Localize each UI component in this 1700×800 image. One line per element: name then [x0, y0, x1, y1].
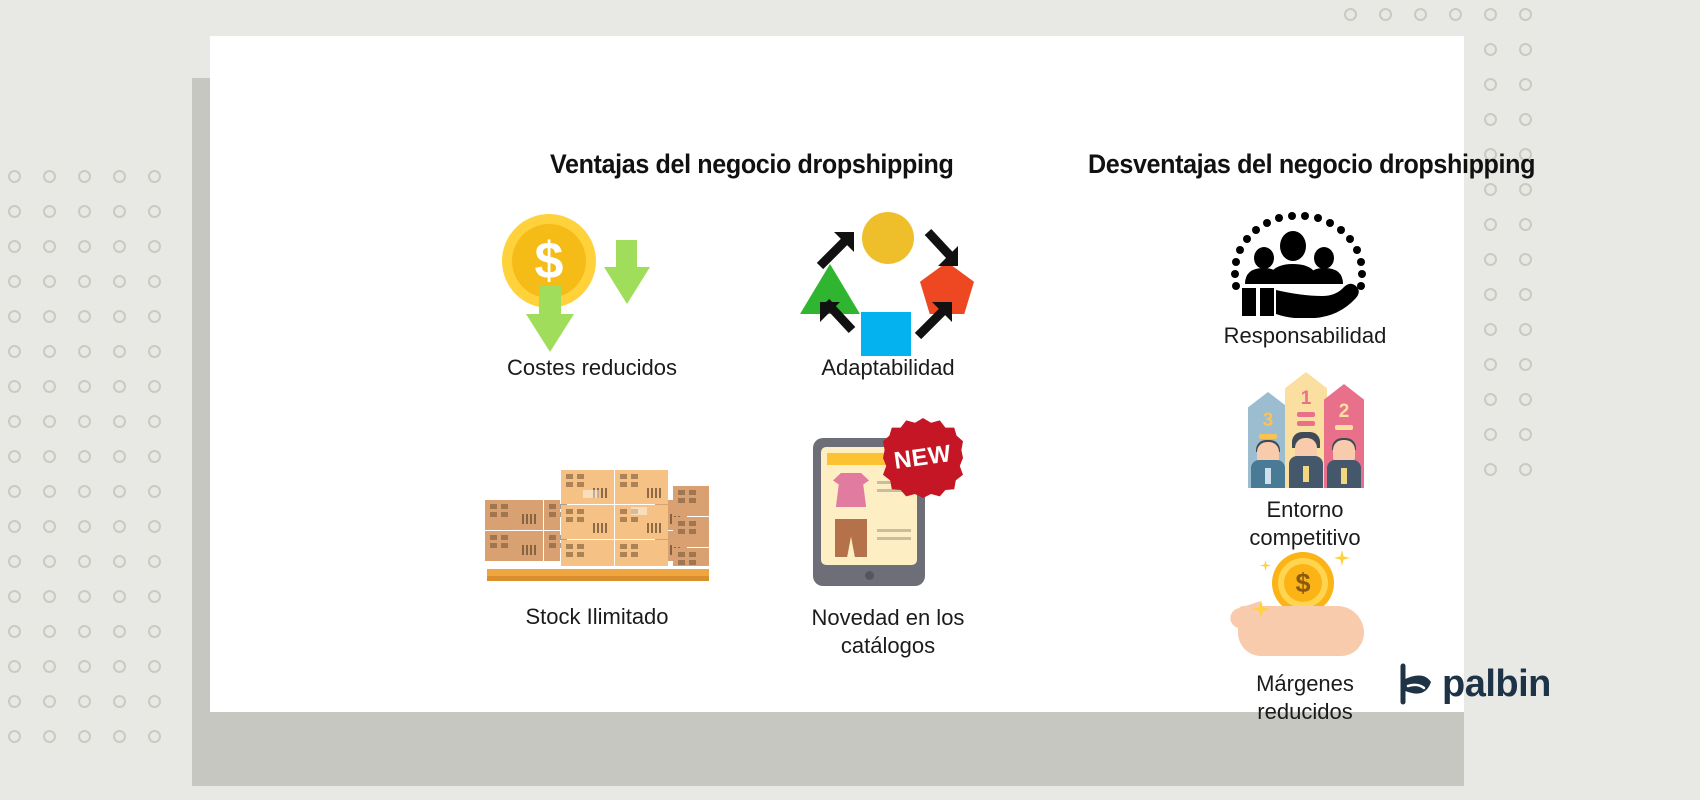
decorative-dot [78, 450, 91, 463]
decorative-dot [43, 415, 56, 428]
decorative-dot [148, 485, 161, 498]
decorative-dot [113, 240, 126, 253]
decorative-dot [1484, 288, 1497, 301]
decorative-dot [1519, 113, 1532, 126]
podium-place-3: 3 [1248, 392, 1288, 488]
decorative-dot [148, 415, 161, 428]
decorative-dot [1519, 358, 1532, 371]
decorative-dot [78, 660, 91, 673]
decorative-dot [43, 520, 56, 533]
dress-product-icon [833, 473, 869, 507]
decorative-dot [8, 625, 21, 638]
decorative-dot [8, 520, 21, 533]
item-responsabilidad: Responsabilidad [1210, 198, 1400, 350]
decorative-dot [1484, 463, 1497, 476]
decorative-dot [43, 205, 56, 218]
decorative-dot [113, 590, 126, 603]
podium-rank-1: 1 [1285, 388, 1327, 410]
item-caption: Adaptabilidad [788, 354, 988, 382]
item-caption: Márgenes reducidos [1210, 670, 1400, 726]
item-caption: Costes reducidos [482, 354, 702, 382]
decorative-dot [8, 275, 21, 288]
podium-place-1: 1 [1285, 372, 1327, 488]
blue-square-shape [861, 312, 911, 356]
podium-rank-3: 3 [1248, 410, 1288, 432]
decorative-dot [78, 485, 91, 498]
decorative-dot [1484, 43, 1497, 56]
decorative-dot [43, 660, 56, 673]
decorative-dot [113, 170, 126, 183]
tablet-home-button [865, 571, 874, 580]
decorative-dot [148, 240, 161, 253]
decorative-dot [1519, 183, 1532, 196]
decorative-dot [78, 695, 91, 708]
down-arrow-large-icon [526, 286, 574, 352]
decorative-dot [1519, 43, 1532, 56]
column-title-ventajas: Ventajas del negocio dropshipping [550, 149, 953, 180]
decorative-dot [78, 345, 91, 358]
decorative-dot [1484, 78, 1497, 91]
decorative-dot [113, 380, 126, 393]
decorative-dot [113, 415, 126, 428]
decorative-dot [43, 695, 56, 708]
decorative-dot [8, 345, 21, 358]
decorative-dot [8, 555, 21, 568]
decorative-dot [1519, 428, 1532, 441]
decorative-dot [148, 695, 161, 708]
dollar-sign: $ [1284, 564, 1322, 602]
decorative-dot [1519, 393, 1532, 406]
palbin-logo: palbin [1395, 662, 1551, 706]
decorative-dot [1484, 8, 1497, 21]
decorative-dot [1519, 323, 1532, 336]
decorative-dot [1484, 393, 1497, 406]
cycle-arrow-top-left-icon [814, 226, 860, 272]
podium-rank-2: 2 [1324, 401, 1364, 423]
new-badge-label: NEW [893, 440, 954, 476]
decorative-dot [1484, 113, 1497, 126]
pants-product-icon [835, 519, 867, 557]
decorative-dot [43, 345, 56, 358]
decorative-dot [148, 275, 161, 288]
decorative-dot [43, 275, 56, 288]
decorative-dot [1519, 218, 1532, 231]
decorative-dot [78, 520, 91, 533]
decorative-dot [148, 205, 161, 218]
decorative-dot [78, 555, 91, 568]
item-caption: Responsabilidad [1210, 322, 1400, 350]
decorative-dot [8, 660, 21, 673]
decorative-dot [78, 275, 91, 288]
decorative-dot [8, 240, 21, 253]
decorative-dot [43, 555, 56, 568]
item-caption: Novedad en los catálogos [798, 604, 978, 660]
decorative-dot [43, 625, 56, 638]
decorative-dot [78, 310, 91, 323]
decorative-dot [1519, 253, 1532, 266]
tablet-catalog-new-badge-icon: NEW [803, 418, 973, 588]
decorative-dot [113, 310, 126, 323]
decorative-dot [8, 380, 21, 393]
decorative-dot [1519, 8, 1532, 21]
decorative-dot [1414, 8, 1427, 21]
decorative-dot [78, 380, 91, 393]
decorative-dot [43, 240, 56, 253]
podium-ranking-icon: 3 1 [1230, 372, 1380, 488]
decorative-dot [43, 170, 56, 183]
new-badge: NEW [883, 418, 963, 498]
item-entorno-competitivo: 3 1 [1210, 372, 1400, 552]
decorative-dot [8, 310, 21, 323]
palbin-logo-text: palbin [1442, 663, 1551, 706]
decorative-dot [43, 380, 56, 393]
decorative-dot [43, 485, 56, 498]
decorative-dot [8, 205, 21, 218]
decorative-dot [8, 170, 21, 183]
decorative-dot [148, 450, 161, 463]
decorative-dot [148, 555, 161, 568]
cycle-arrow-top-right-icon [916, 226, 962, 272]
decorative-dot [113, 485, 126, 498]
decorative-dot [78, 415, 91, 428]
item-caption: Stock Ilimitado [472, 603, 722, 631]
decorative-dot [1484, 253, 1497, 266]
down-arrow-small-icon [604, 240, 650, 304]
decorative-dot [1484, 428, 1497, 441]
sparkle-icon [1260, 560, 1271, 571]
decorative-dot [113, 275, 126, 288]
yellow-circle-shape [862, 212, 914, 264]
decorative-dot [148, 625, 161, 638]
decorative-dot [43, 590, 56, 603]
coin-down-arrows-icon: $ [482, 204, 702, 354]
decorative-dot [148, 730, 161, 743]
coin-in-hand-icon: $ [1230, 544, 1380, 664]
decorative-dot [113, 695, 126, 708]
decorative-dot [8, 695, 21, 708]
decorative-dot [78, 170, 91, 183]
decorative-dot [8, 730, 21, 743]
decorative-dot [78, 625, 91, 638]
podium-place-2: 2 [1324, 384, 1364, 488]
decorative-dot [1484, 323, 1497, 336]
decorative-dot [148, 590, 161, 603]
decorative-dot [113, 205, 126, 218]
decorative-dot [8, 590, 21, 603]
decorative-dot [148, 380, 161, 393]
decorative-dot [148, 520, 161, 533]
decorative-dot [1379, 8, 1392, 21]
pallet-shadow [487, 576, 709, 581]
decorative-dot [1519, 463, 1532, 476]
decorative-dot [113, 520, 126, 533]
decorative-dot [1484, 358, 1497, 371]
decorative-dot [113, 555, 126, 568]
decorative-dot [113, 450, 126, 463]
decorative-dot [113, 625, 126, 638]
decorative-dot [1484, 218, 1497, 231]
responsibility-glyph [1220, 198, 1390, 318]
decorative-dot [1519, 288, 1532, 301]
hand-holding-people-icon [1220, 198, 1390, 318]
decorative-dot [113, 345, 126, 358]
decorative-dot [148, 310, 161, 323]
sparkle-icon [1334, 550, 1350, 566]
cycle-arrow-bottom-left-icon [814, 296, 860, 342]
decorative-dot [113, 730, 126, 743]
column-title-desventajas: Desventajas del negocio dropshipping [1088, 149, 1535, 180]
decorative-dot-grid-left [8, 170, 183, 765]
decorative-dot [43, 310, 56, 323]
item-novedad-catalogos: NEW Novedad en los catálogos [798, 418, 978, 660]
decorative-dot [43, 450, 56, 463]
slide-card: Ventajas del negocio dropshipping Desven… [210, 36, 1464, 712]
slide-canvas: Ventajas del negocio dropshipping Desven… [0, 0, 1700, 800]
cycle-arrow-bottom-right-icon [912, 296, 958, 342]
decorative-dot [148, 170, 161, 183]
item-adaptabilidad: Adaptabilidad [788, 204, 988, 382]
decorative-dot [148, 660, 161, 673]
item-margenes-reducidos: $ Márgenes reducidos [1210, 544, 1400, 726]
decorative-dot [113, 660, 126, 673]
item-costes-reducidos: $ Costes reducidos [482, 204, 702, 382]
decorative-dot [8, 485, 21, 498]
decorative-dot [148, 345, 161, 358]
decorative-dot [1344, 8, 1357, 21]
decorative-dot [1484, 183, 1497, 196]
decorative-dot [43, 730, 56, 743]
decorative-dot [78, 590, 91, 603]
decorative-dot [78, 240, 91, 253]
palbin-leaf-mark-icon [1395, 662, 1435, 706]
decorative-dot [1519, 78, 1532, 91]
decorative-dot [78, 205, 91, 218]
decorative-dot [78, 730, 91, 743]
decorative-dot [8, 450, 21, 463]
item-stock-ilimitado: Stock Ilimitado [472, 456, 722, 631]
decorative-dot [1449, 8, 1462, 21]
decorative-dot [8, 415, 21, 428]
stacked-boxes-pallet-icon [477, 456, 717, 581]
shapes-cycle-icon [788, 204, 988, 354]
